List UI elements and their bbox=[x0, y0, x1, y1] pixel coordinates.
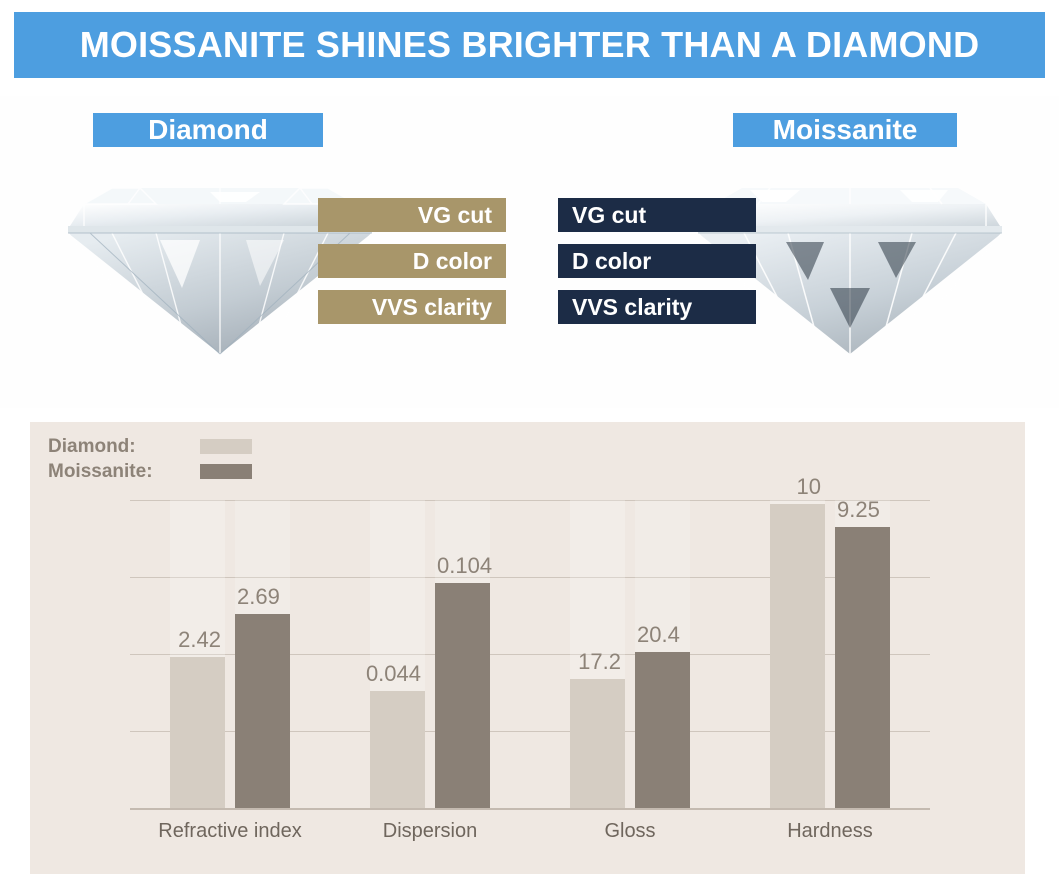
chart-category-label-1: Dispersion bbox=[383, 820, 477, 843]
moissanite-spec-cut: VG cut bbox=[558, 198, 756, 232]
bar-value-moissanite-1: 0.104 bbox=[437, 553, 492, 579]
bar-diamond-1[interactable] bbox=[370, 691, 425, 808]
legend-swatch-diamond bbox=[200, 439, 252, 454]
bar-diamond-3[interactable] bbox=[770, 504, 825, 808]
bar-moissanite-1[interactable] bbox=[435, 583, 490, 808]
moissanite-spec-clarity: VVS clarity bbox=[558, 290, 756, 324]
bar-diamond-2[interactable] bbox=[570, 679, 625, 808]
bar-diamond-0[interactable] bbox=[170, 657, 225, 808]
bar-moissanite-2[interactable] bbox=[635, 652, 690, 808]
title-banner: MOISSANITE SHINES BRIGHTER THAN A DIAMON… bbox=[14, 12, 1045, 78]
chart-legend: Diamond: Moissanite: bbox=[48, 434, 252, 484]
bar-value-diamond-2: 17.2 bbox=[508, 649, 621, 675]
page-title: MOISSANITE SHINES BRIGHTER THAN A DIAMON… bbox=[80, 24, 980, 66]
bar-value-moissanite-3: 9.25 bbox=[837, 497, 880, 523]
gem-comparison-section: Diamond Moissanite bbox=[0, 96, 1059, 408]
bar-value-moissanite-2: 20.4 bbox=[637, 622, 680, 648]
diamond-spec-color: D color bbox=[318, 244, 506, 278]
chart-plot-area: 2.422.69Refractive index0.0440.104Disper… bbox=[130, 500, 930, 810]
bar-value-moissanite-0: 2.69 bbox=[237, 584, 280, 610]
legend-label-diamond: Diamond: bbox=[48, 436, 200, 458]
bar-value-diamond-3: 10 bbox=[708, 474, 821, 500]
diamond-spec-cut: VG cut bbox=[318, 198, 506, 232]
moissanite-spec-color: D color bbox=[558, 244, 756, 278]
chart-category-label-3: Hardness bbox=[787, 820, 873, 843]
legend-swatch-moissanite bbox=[200, 464, 252, 479]
chart-category-label-2: Gloss bbox=[604, 820, 655, 843]
bar-value-diamond-1: 0.044 bbox=[308, 661, 421, 687]
bar-moissanite-0[interactable] bbox=[235, 614, 290, 808]
chart-category-label-0: Refractive index bbox=[158, 820, 301, 843]
legend-label-moissanite: Moissanite: bbox=[48, 461, 200, 483]
legend-item-moissanite: Moissanite: bbox=[48, 459, 252, 484]
bar-moissanite-3[interactable] bbox=[835, 527, 890, 808]
chart-axis-line bbox=[130, 808, 930, 810]
bar-value-diamond-0: 2.42 bbox=[108, 627, 221, 653]
moissanite-tag: Moissanite bbox=[733, 113, 957, 147]
diamond-tag: Diamond bbox=[93, 113, 323, 147]
diamond-spec-clarity: VVS clarity bbox=[318, 290, 506, 324]
legend-item-diamond: Diamond: bbox=[48, 434, 252, 459]
infographic-page: MOISSANITE SHINES BRIGHTER THAN A DIAMON… bbox=[0, 0, 1059, 896]
comparison-bar-chart: Diamond: Moissanite: 2.422.69Refractive … bbox=[30, 422, 1025, 874]
